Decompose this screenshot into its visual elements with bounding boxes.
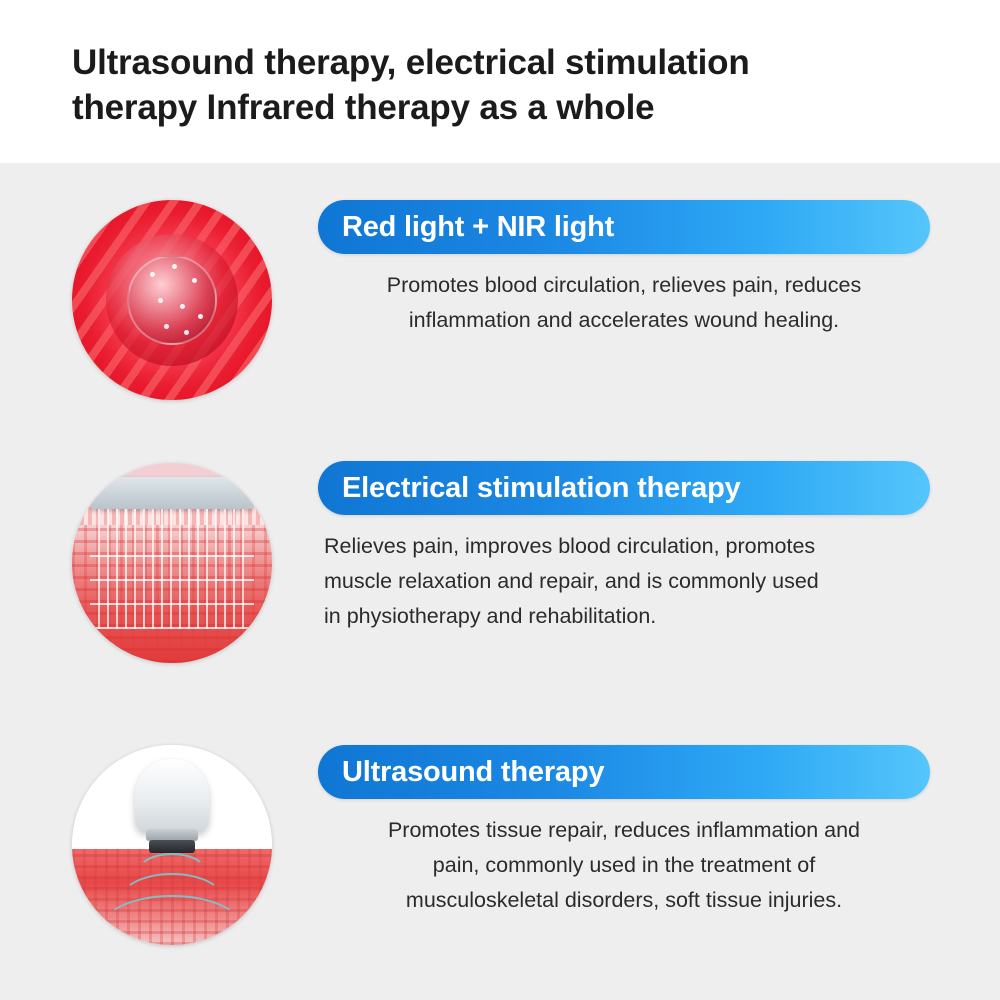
feature-row-red-light: Red light + NIR light Promotes blood cir… bbox=[0, 188, 1000, 458]
product-infographic-page: Ultrasound therapy, electrical stimulati… bbox=[0, 0, 1000, 1000]
feature-row-electrical-stimulation: Electrical stimulation therapy Relieves … bbox=[0, 453, 1000, 718]
feature-description-red-light: Promotes blood circulation, relieves pai… bbox=[318, 268, 930, 338]
feature-panel: Red light + NIR light Promotes blood cir… bbox=[0, 163, 1000, 1000]
feature-title-bar-ultrasound[interactable]: Ultrasound therapy bbox=[318, 745, 930, 799]
feature-title-bar-red-light[interactable]: Red light + NIR light bbox=[318, 200, 930, 254]
feature-row-ultrasound: Ultrasound therapy Promotes tissue repai… bbox=[0, 733, 1000, 998]
feature-title-bar-electrical-stimulation[interactable]: Electrical stimulation therapy bbox=[318, 461, 930, 515]
feature-content-ultrasound: Ultrasound therapy Promotes tissue repai… bbox=[318, 745, 930, 918]
red-light-dome-illustration bbox=[72, 200, 272, 400]
feature-title-electrical-stimulation: Electrical stimulation therapy bbox=[342, 472, 741, 505]
feature-title-ultrasound: Ultrasound therapy bbox=[342, 756, 604, 789]
feature-description-ultrasound: Promotes tissue repair, reduces inflamma… bbox=[318, 813, 930, 918]
ultrasound-probe-skin-illustration bbox=[72, 745, 272, 945]
feature-title-red-light: Red light + NIR light bbox=[342, 211, 614, 244]
feature-content-electrical-stimulation: Electrical stimulation therapy Relieves … bbox=[318, 461, 930, 634]
page-title: Ultrasound therapy, electrical stimulati… bbox=[72, 40, 952, 130]
feature-description-electrical-stimulation: Relieves pain, improves blood circulatio… bbox=[318, 529, 930, 634]
feature-content-red-light: Red light + NIR light Promotes blood cir… bbox=[318, 200, 930, 338]
electrical-stimulation-skin-illustration bbox=[72, 463, 272, 663]
header: Ultrasound therapy, electrical stimulati… bbox=[0, 0, 1000, 163]
